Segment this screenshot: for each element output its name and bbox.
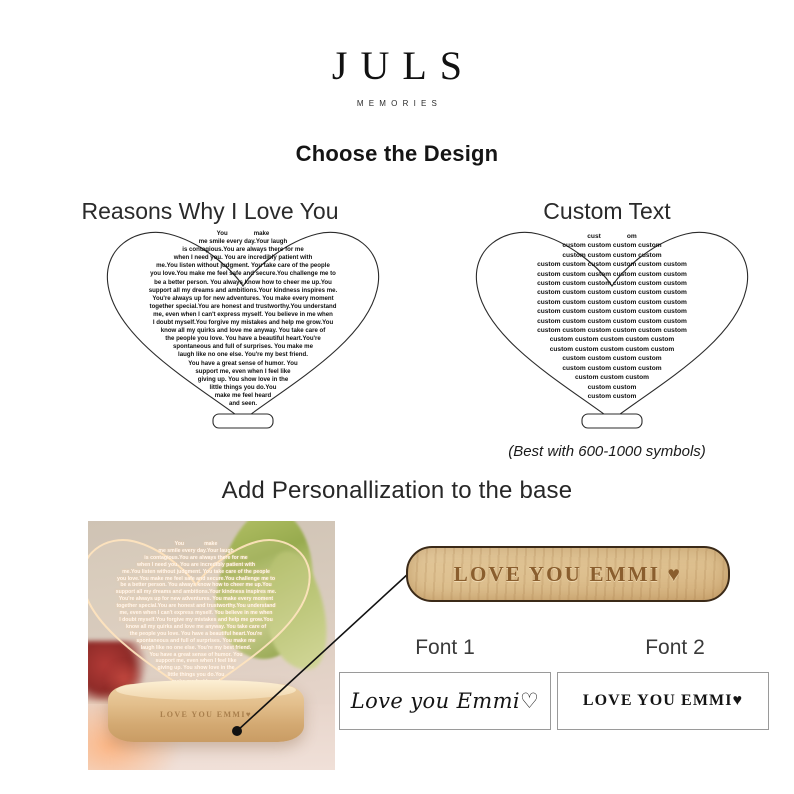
design-option-reasons[interactable]: You make me smile every day.Your laughis…: [103, 224, 383, 434]
heart-outline-left: [103, 224, 383, 434]
heart-text-line: the people you love. You have a beautifu…: [88, 631, 314, 638]
photo-heart-text: You make me smile every day.Your laughis…: [88, 533, 314, 701]
photo-base-engraving: LOVE YOU EMMI♥: [108, 710, 304, 719]
heart-text-line: I doubt myself.You forgive my mistakes a…: [88, 617, 314, 624]
brand-tagline: MEMORIES: [0, 99, 794, 108]
product-listing-page: JULS MEMORIES Choose the Design Reasons …: [0, 0, 794, 794]
heart-text-line: me smile every day.Your laugh: [88, 548, 314, 555]
photo-wooden-base: LOVE YOU EMMI♥: [108, 684, 304, 742]
brand-logo: JULS MEMORIES: [0, 46, 794, 108]
heart-text-line: spontaneous and full of surprises. You m…: [88, 638, 314, 645]
heart-text-line: laugh like no one else. You're my best f…: [88, 645, 314, 652]
font-2-sample: LOVE YOU EMMI♥: [583, 692, 743, 710]
heart-text-line: know all my quirks and love me anyway. Y…: [88, 624, 314, 631]
design-title-custom: Custom Text: [420, 198, 794, 225]
add-personalization-heading: Add Personallization to the base: [0, 477, 794, 505]
brand-name: JULS: [0, 46, 794, 86]
design-title-reasons: Reasons Why I Love You: [0, 198, 420, 225]
heart-text-line: me, even when I can't express myself. Yo…: [88, 610, 314, 617]
heart-text-line: me.You listen without judgment. You take…: [88, 569, 314, 576]
photo-base-top: [116, 680, 296, 700]
heart-text-line: when I need you. You are incredibly pati…: [88, 562, 314, 569]
choose-design-heading: Choose the Design: [0, 141, 794, 167]
font-1-label: Font 1: [345, 636, 545, 660]
heart-text-line: is contagious.You are always there for m…: [88, 555, 314, 562]
font-2-option[interactable]: LOVE YOU EMMI♥: [557, 672, 769, 730]
symbols-note: (Best with 600-1000 symbols): [420, 443, 794, 460]
font-1-option[interactable]: Love you Emmi♡: [339, 672, 551, 730]
photo-heart-body-lines: me smile every day.Your laughis contagio…: [88, 548, 314, 693]
product-photo: You make me smile every day.Your laughis…: [88, 521, 335, 770]
engraved-plaque-preview: LOVE YOU EMMI ♥: [406, 546, 730, 602]
plaque-engraving-text: LOVE YOU EMMI ♥: [408, 548, 728, 600]
design-option-custom[interactable]: cust om custom custom custom customcusto…: [472, 224, 752, 434]
font-2-label: Font 2: [575, 636, 775, 660]
photo-heart-lobe-left: You: [175, 541, 184, 548]
font-1-sample: Love you Emmi♡: [351, 689, 540, 713]
photo-heart-lobe-right: make: [204, 541, 217, 548]
heart-outline-right: [472, 224, 752, 434]
